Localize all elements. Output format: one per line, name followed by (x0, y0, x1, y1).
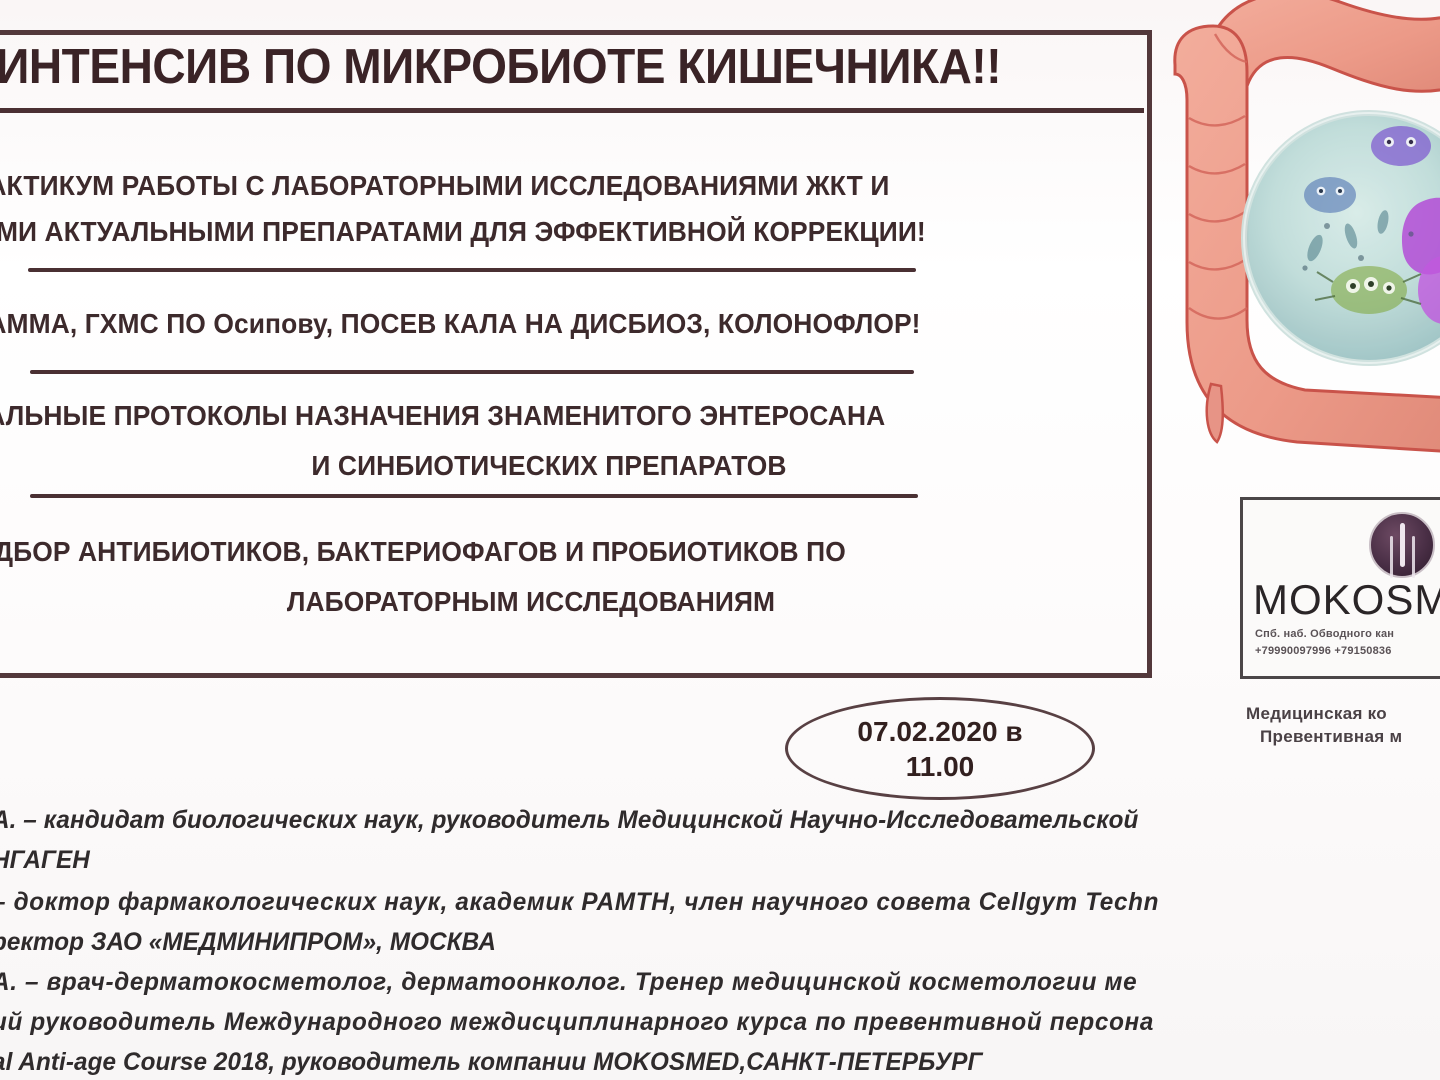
mokosmed-logo-card: MOKOSM Спб. наб. Обводного кан +79990097… (1240, 497, 1440, 679)
program-line-3b: И СИНБИОТИЧЕСКИХ ПРЕПАРАТОВ (22, 450, 1076, 482)
logo-wordmark: MOKOSM (1253, 576, 1440, 624)
logo-address: Спб. наб. Обводного кан (1255, 628, 1394, 640)
program-line-2a: РАММА, ГХМС ПО Осипову, ПОСЕВ КАЛА НА ДИ… (0, 308, 921, 340)
program-line-1a: РАКТИКУМ РАБОТЫ С ЛАБОРАТОРНЫМИ ИССЛЕДОВ… (0, 170, 889, 202)
poster-title-row: РИНТЕНСИВ ПО МИКРОБИОТЕ КИШЕЧНИКА!! (0, 42, 1146, 94)
program-box (0, 30, 1152, 678)
program-line-3a: КАЛЬНЫЕ ПРОТОКОЛЫ НАЗНАЧЕНИЯ ЗНАМЕНИТОГО… (0, 400, 885, 432)
title-underline (0, 108, 1144, 113)
poster-canvas: РИНТЕНСИВ ПО МИКРОБИОТЕ КИШЕЧНИКА!! РАКТ… (0, 0, 1440, 1080)
speaker-line-2: НГАГЕН (0, 846, 90, 875)
logo-phone: +79990097996 +79150836 (1255, 645, 1392, 657)
event-date-badge: 07.02.2020 в 11.00 (785, 697, 1095, 800)
section-divider-1 (28, 268, 916, 272)
logo-caption: Медицинская ко Превентивная м (1246, 703, 1440, 749)
program-line-4a: ОДБОР АНТИБИОТИКОВ, БАКТЕРИОФАГОВ И ПРОБ… (0, 536, 846, 568)
program-line-4b: ЛАБОРАТОРНЫМ ИССЛЕДОВАНИЯМ (21, 586, 1041, 618)
speaker-line-4: ректор ЗАО «МЕДМИНИПРОМ», МОСКВА (0, 928, 496, 957)
logo-caption-line2: Превентивная м (1246, 726, 1440, 749)
logo-caption-line1: Медицинская ко (1246, 703, 1440, 726)
section-divider-2 (30, 370, 914, 374)
speaker-line-5: А. – врач-дерматокосметолог, дерматоонко… (0, 968, 1137, 997)
speaker-line-3: – доктор фармакологических наук, академи… (0, 888, 1159, 917)
event-time: 11.00 (906, 749, 975, 784)
intestine-microbiome-illustration (1155, 0, 1440, 490)
page-title: РИНТЕНСИВ ПО МИКРОБИОТЕ КИШЕЧНИКА!! (0, 42, 1075, 94)
speaker-line-1: А. – кандидат биологических наук, руково… (0, 806, 1138, 835)
section-divider-3 (30, 494, 918, 498)
program-line-1b: ЫМИ АКТУАЛЬНЫМИ ПРЕПАРАТАМИ ДЛЯ ЭФФЕКТИВ… (0, 216, 926, 248)
caduceus-emblem-icon (1369, 512, 1435, 578)
event-date: 07.02.2020 в (857, 714, 1022, 749)
speaker-line-6: ий руководитель Международного междисцип… (0, 1008, 1154, 1037)
speaker-line-7: al Anti-age Course 2018, руководитель ко… (0, 1048, 983, 1077)
